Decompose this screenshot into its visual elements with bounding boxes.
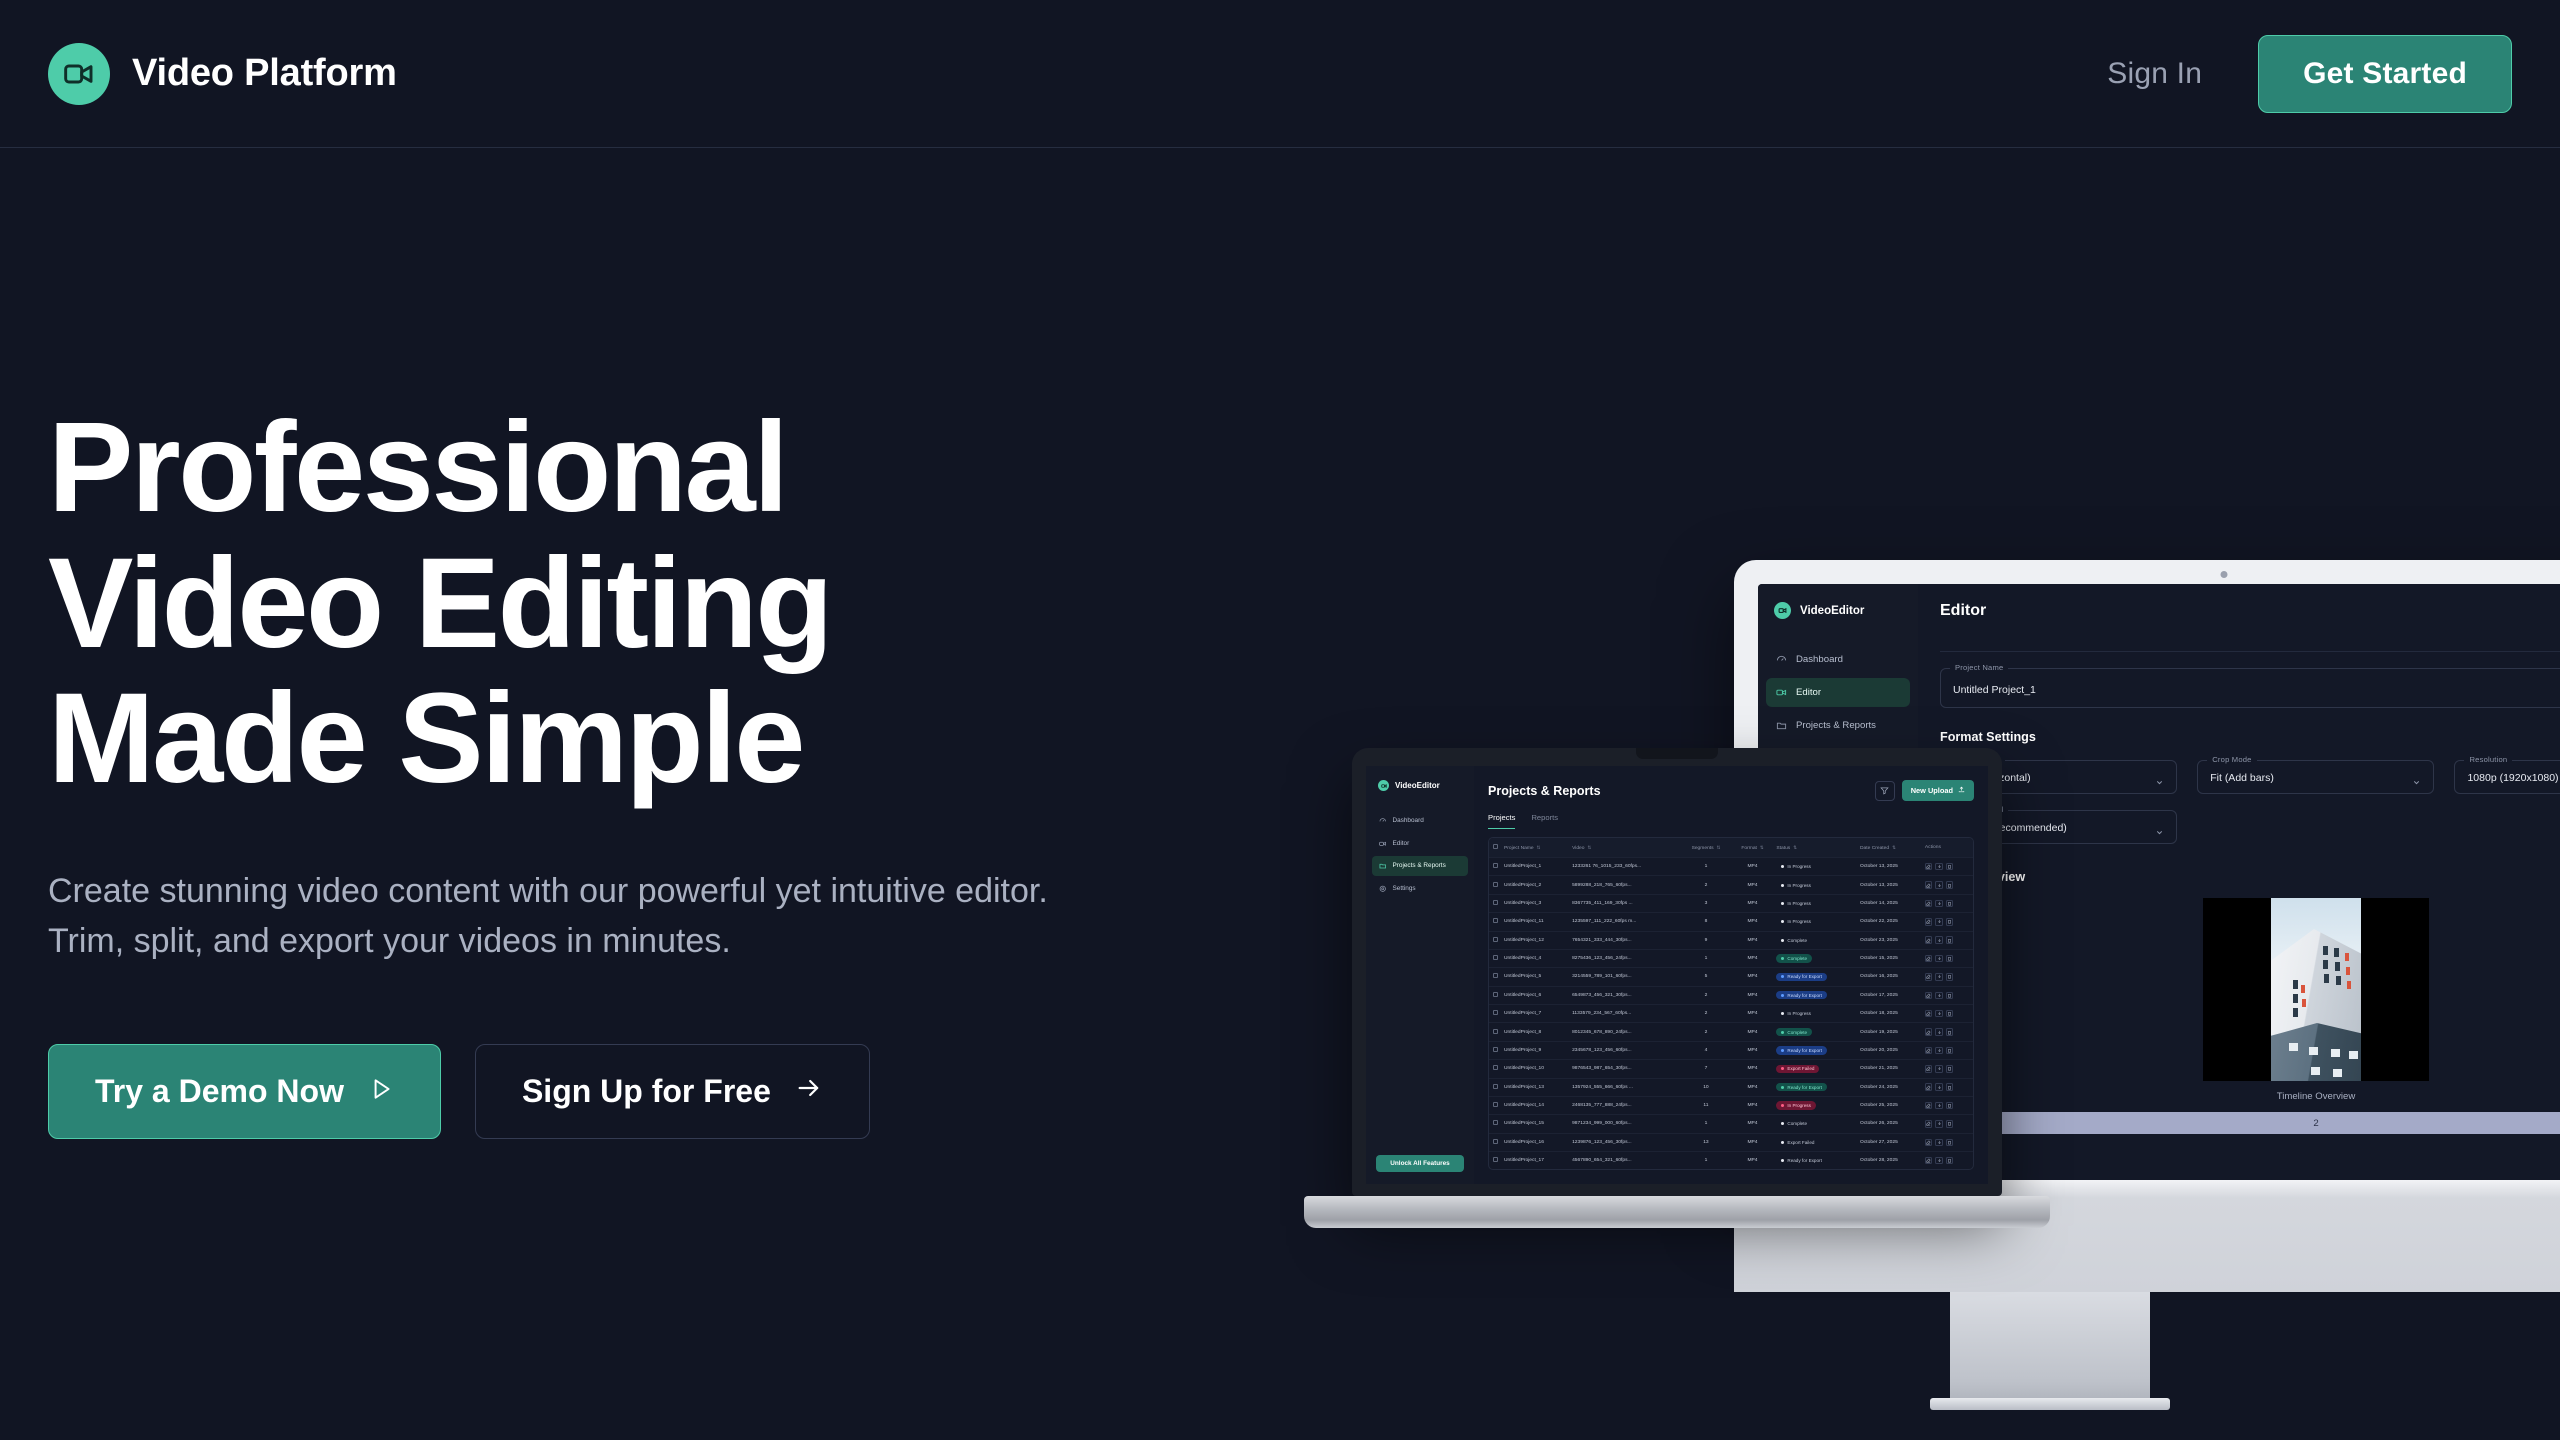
cell-format: MP4 xyxy=(1732,1041,1774,1059)
sidebar-item-settings[interactable]: Settings xyxy=(1372,879,1468,899)
project-name-label: Project Name xyxy=(1950,663,2008,672)
sidebar-item-projects-reports[interactable]: Projects & Reports xyxy=(1766,711,1910,740)
cell-video: 6549873_456_321_30fps... xyxy=(1569,986,1680,1004)
checkbox-icon[interactable] xyxy=(1493,937,1498,942)
row-checkbox[interactable] xyxy=(1489,1152,1501,1170)
projects-page-title: Projects & Reports xyxy=(1488,784,1601,798)
monitor-stand-foot xyxy=(1930,1398,2170,1410)
device-mockups: VideoEditor Dashboard Editor xyxy=(1330,478,2560,1428)
format-settings-heading: Format Settings xyxy=(1940,730,2560,744)
tab-reports[interactable]: Reports xyxy=(1531,813,1558,829)
video-preview-player[interactable] xyxy=(2203,898,2429,1081)
status-dot-icon xyxy=(1781,1122,1784,1125)
table-row[interactable]: UntitledProject_159871234_999_000_60fps.… xyxy=(1489,1115,1973,1133)
status-label: In Progress xyxy=(1787,864,1811,869)
edit-icon[interactable] xyxy=(1925,1157,1933,1165)
row-checkbox[interactable] xyxy=(1489,986,1501,1004)
project-name-value: Untitled Project_1 xyxy=(1953,684,2036,696)
cell-project-name: UntitledProject_16 xyxy=(1501,1133,1569,1151)
cell-video: 3214559_789_101_60fps... xyxy=(1569,968,1680,986)
status-label: Ready for Export xyxy=(1787,1158,1821,1163)
play-triangle-icon xyxy=(368,1073,394,1110)
new-upload-button[interactable]: New Upload xyxy=(1902,780,1974,801)
cell-actions xyxy=(1922,894,1973,912)
download-icon[interactable] xyxy=(1935,1047,1943,1055)
row-checkbox[interactable] xyxy=(1489,931,1501,949)
cell-status: In Progress xyxy=(1773,1096,1857,1114)
status-dot-icon xyxy=(1781,902,1784,905)
sign-in-link[interactable]: Sign In xyxy=(2107,57,2202,91)
row-checkbox[interactable] xyxy=(1489,1133,1501,1151)
cell-project-name: UntitledProject_1 xyxy=(1501,858,1569,876)
cell-project-name: UntitledProject_13 xyxy=(1501,1078,1569,1096)
edit-icon[interactable] xyxy=(1925,955,1933,963)
delete-icon[interactable] xyxy=(1946,1120,1954,1128)
delete-icon[interactable] xyxy=(1946,1065,1954,1073)
row-checkbox[interactable] xyxy=(1489,858,1501,876)
chevron-down-icon xyxy=(2155,824,2164,833)
checkbox-icon[interactable] xyxy=(1493,992,1498,997)
sort-icon: ⇅ xyxy=(1587,845,1591,851)
cell-segments: 2 xyxy=(1680,986,1731,1004)
unlock-all-features-button[interactable]: Unlock All Features xyxy=(1376,1155,1464,1172)
row-checkbox[interactable] xyxy=(1489,1115,1501,1133)
cell-actions xyxy=(1922,1096,1973,1114)
checkbox-icon[interactable] xyxy=(1493,900,1498,905)
sidebar-label: Projects & Reports xyxy=(1393,862,1446,869)
status-dot-icon xyxy=(1781,1049,1784,1052)
table-row[interactable]: UntitledProject_48275436_123_456_24fps..… xyxy=(1489,949,1973,967)
cell-actions xyxy=(1922,876,1973,894)
cell-project-name: UntitledProject_17 xyxy=(1501,1152,1569,1170)
hero-title-line-1: Professional xyxy=(48,400,1168,536)
sidebar-label: Projects & Reports xyxy=(1796,720,1876,731)
new-upload-label: New Upload xyxy=(1911,786,1953,795)
column-segments[interactable]: Segments⇅ xyxy=(1680,838,1731,858)
cell-project-name: UntitledProject_4 xyxy=(1501,949,1569,967)
sidebar-item-dashboard[interactable]: Dashboard xyxy=(1766,645,1910,674)
hero-title-line-2: Video Editing xyxy=(48,536,1168,672)
cell-segments: 5 xyxy=(1680,968,1731,986)
editor-toolbar: Editor Save Exp xyxy=(1940,602,2560,635)
cell-status: Ready for Export xyxy=(1773,1152,1857,1170)
table-row[interactable]: UntitledProject_174567890_654_321_60fps.… xyxy=(1489,1152,1973,1170)
projects-header-actions: New Upload xyxy=(1875,780,1974,801)
cell-format: MP4 xyxy=(1732,1060,1774,1078)
header-actions: Sign In Get Started xyxy=(2107,35,2512,113)
status-dot-icon xyxy=(1781,1067,1784,1070)
download-icon[interactable] xyxy=(1935,955,1943,963)
delete-icon[interactable] xyxy=(1946,955,1954,963)
video-camera-icon xyxy=(1378,780,1389,791)
laptop-base xyxy=(1304,1196,2050,1228)
filter-funnel-icon[interactable] xyxy=(1875,781,1895,801)
sign-up-button[interactable]: Sign Up for Free xyxy=(475,1044,870,1139)
timeline-bar[interactable]: 2 xyxy=(1940,1112,2560,1134)
status-label: Export Failed xyxy=(1787,1066,1814,1071)
row-checkbox[interactable] xyxy=(1489,1005,1501,1023)
status-label: Complete xyxy=(1787,938,1807,943)
cell-status: Ready for Export xyxy=(1773,986,1857,1004)
cell-video: 8275436_123_456_24fps... xyxy=(1569,949,1680,967)
sidebar-label: Editor xyxy=(1393,840,1410,847)
sort-icon: ⇅ xyxy=(1717,845,1721,851)
edit-icon[interactable] xyxy=(1925,992,1933,1000)
cell-date-created: October 16, 2025 xyxy=(1857,968,1922,986)
cell-format: MP4 xyxy=(1732,1005,1774,1023)
cell-status: Ready for Export xyxy=(1773,1041,1857,1059)
row-checkbox[interactable] xyxy=(1489,1041,1501,1059)
table-row[interactable]: UntitledProject_66549873_456_321_30fps..… xyxy=(1489,986,1973,1004)
edit-icon[interactable] xyxy=(1925,1010,1933,1018)
cell-actions xyxy=(1922,913,1973,931)
checkbox-icon[interactable] xyxy=(1493,1084,1498,1089)
cell-format: MP4 xyxy=(1732,894,1774,912)
table-row[interactable]: UntitledProject_71133579_234_567_60fps..… xyxy=(1489,1005,1973,1023)
crop-mode-select[interactable]: Crop Mode Fit (Add bars) xyxy=(2197,760,2434,794)
cell-actions xyxy=(1922,1152,1973,1170)
edit-icon[interactable] xyxy=(1925,1102,1933,1110)
table-row[interactable]: UntitledProject_11233261 76_1015_233_60f… xyxy=(1489,858,1973,876)
table-row[interactable]: UntitledProject_111235597_111_222_60fps … xyxy=(1489,913,1973,931)
format-settings-row: Aspect Ratio 16:9 (Horizontal) Crop Mode… xyxy=(1940,760,2560,794)
cell-video: 7654321_333_444_30fps... xyxy=(1569,931,1680,949)
cell-segments: 9 xyxy=(1680,931,1731,949)
column-format[interactable]: Format⇅ xyxy=(1732,838,1774,858)
editor-page-title: Editor xyxy=(1940,602,1986,620)
status-dot-icon xyxy=(1781,1012,1784,1015)
row-checkbox[interactable] xyxy=(1489,1078,1501,1096)
row-checkbox[interactable] xyxy=(1489,949,1501,967)
brand-logo[interactable]: Video Platform xyxy=(48,43,397,105)
cell-date-created: October 25, 2025 xyxy=(1857,1096,1922,1114)
edit-icon[interactable] xyxy=(1925,1028,1933,1036)
cell-date-created: October 19, 2025 xyxy=(1857,1023,1922,1041)
checkbox-icon[interactable] xyxy=(1493,1139,1498,1144)
cell-segments: 1 xyxy=(1680,1115,1731,1133)
table-header-row: Project Name⇅ Video⇅ Segments⇅ Format⇅ S… xyxy=(1489,838,1973,858)
cell-segments: 11 xyxy=(1680,1096,1731,1114)
sidebar-item-projects-reports[interactable]: Projects & Reports xyxy=(1372,856,1468,876)
video-preview-header: Video Preview Video player size xyxy=(1940,870,2560,884)
download-icon[interactable] xyxy=(1935,1157,1943,1165)
cell-project-name: UntitledProject_2 xyxy=(1501,876,1569,894)
table-row[interactable]: UntitledProject_161239876_123_456_30fps.… xyxy=(1489,1133,1973,1151)
table-row[interactable]: UntitledProject_131357924_555_666_60fps … xyxy=(1489,1078,1973,1096)
cell-project-name: UntitledProject_14 xyxy=(1501,1096,1569,1114)
cell-project-name: UntitledProject_5 xyxy=(1501,968,1569,986)
delete-icon[interactable] xyxy=(1946,1028,1954,1036)
status-dot-icon xyxy=(1781,865,1784,868)
video-camera-icon xyxy=(1379,840,1387,848)
download-icon[interactable] xyxy=(1935,1010,1943,1018)
table-row[interactable]: UntitledProject_142468135_777_888_24fps.… xyxy=(1489,1096,1973,1114)
download-icon[interactable] xyxy=(1935,1065,1943,1073)
toolbar-divider xyxy=(1940,651,2560,652)
table-row[interactable]: UntitledProject_109876543_987_654_30fps.… xyxy=(1489,1060,1973,1078)
cell-status: Complete xyxy=(1773,931,1857,949)
checkbox-icon[interactable] xyxy=(1493,863,1498,868)
export-speed-row: Export Speed Quality (Recommended) xyxy=(1940,810,2560,844)
delete-icon[interactable] xyxy=(1946,936,1954,944)
download-icon[interactable] xyxy=(1935,1120,1943,1128)
edit-icon[interactable] xyxy=(1925,1047,1933,1055)
status-label: In Progress xyxy=(1787,901,1811,906)
checkbox-icon[interactable] xyxy=(1493,1102,1498,1107)
cell-format: MP4 xyxy=(1732,968,1774,986)
download-icon[interactable] xyxy=(1935,1139,1943,1147)
download-icon[interactable] xyxy=(1935,900,1943,908)
cell-project-name: UntitledProject_8 xyxy=(1501,1023,1569,1041)
status-label: In Progress xyxy=(1787,919,1811,924)
status-badge: In Progress xyxy=(1776,1010,1816,1018)
cell-video: 1233261 76_1015_233_60fps... xyxy=(1569,858,1680,876)
sidebar-label: Dashboard xyxy=(1796,654,1843,665)
cell-status: Complete xyxy=(1773,1023,1857,1041)
cell-segments: 10 xyxy=(1680,1078,1731,1096)
delete-icon[interactable] xyxy=(1946,881,1954,889)
chevron-down-icon xyxy=(2412,774,2421,783)
row-checkbox[interactable] xyxy=(1489,876,1501,894)
column-actions: Actions xyxy=(1922,838,1973,858)
checkbox-icon[interactable] xyxy=(1493,955,1498,960)
cell-format: MP4 xyxy=(1732,858,1774,876)
status-label: In Progress xyxy=(1787,1103,1811,1108)
crop-mode-value: Fit (Add bars) xyxy=(2210,772,2274,784)
checkbox-icon[interactable] xyxy=(1493,1047,1498,1052)
edit-icon[interactable] xyxy=(1925,973,1933,981)
cell-segments: 4 xyxy=(1680,1041,1731,1059)
gauge-icon xyxy=(1379,817,1387,825)
cell-actions xyxy=(1922,949,1973,967)
table-row[interactable]: UntitledProject_53214559_789_101_60fps..… xyxy=(1489,968,1973,986)
cell-status: Complete xyxy=(1773,1115,1857,1133)
checkbox-icon[interactable] xyxy=(1493,1065,1498,1070)
preview-frame-image xyxy=(2271,898,2361,1081)
column-video[interactable]: Video⇅ xyxy=(1569,838,1680,858)
row-checkbox[interactable] xyxy=(1489,894,1501,912)
cell-status: Ready for Export xyxy=(1773,1078,1857,1096)
timeline-overview-caption: Timeline Overview xyxy=(2277,1091,2356,1102)
status-badge: Complete xyxy=(1776,1120,1812,1128)
checkbox-icon[interactable] xyxy=(1493,1010,1498,1015)
projects-brand: VideoEditor xyxy=(1366,780,1474,791)
cell-format: MP4 xyxy=(1732,986,1774,1004)
page-title: Professional Video Editing Made Simple xyxy=(48,400,1168,807)
cell-video: 5899288_218_765_60fps... xyxy=(1569,876,1680,894)
sidebar-item-editor[interactable]: Editor xyxy=(1766,678,1910,707)
checkbox-icon[interactable] xyxy=(1493,1157,1498,1162)
edit-icon[interactable] xyxy=(1925,1120,1933,1128)
download-icon[interactable] xyxy=(1935,1028,1943,1036)
delete-icon[interactable] xyxy=(1946,1157,1954,1165)
edit-icon[interactable] xyxy=(1925,918,1933,926)
cell-format: MP4 xyxy=(1732,1115,1774,1133)
cell-status: In Progress xyxy=(1773,1005,1857,1023)
project-name-field[interactable]: Project Name Untitled Project_1 xyxy=(1940,668,2560,708)
checkbox-icon[interactable] xyxy=(1493,882,1498,887)
hero-copy: Professional Video Editing Made Simple C… xyxy=(48,400,1168,1139)
download-icon[interactable] xyxy=(1935,918,1943,926)
cell-status: Export Failed xyxy=(1773,1060,1857,1078)
cell-actions xyxy=(1922,1023,1973,1041)
projects-brand-label: VideoEditor xyxy=(1395,781,1440,790)
edit-icon[interactable] xyxy=(1925,1083,1933,1091)
projects-table-container: Project Name⇅ Video⇅ Segments⇅ Format⇅ S… xyxy=(1488,837,1974,1170)
cell-video: 1133579_234_567_60fps... xyxy=(1569,1005,1680,1023)
row-checkbox[interactable] xyxy=(1489,913,1501,931)
checkbox-icon[interactable] xyxy=(1493,973,1498,978)
status-label: Ready for Export xyxy=(1787,1048,1821,1053)
edit-icon[interactable] xyxy=(1925,1139,1933,1147)
edit-icon[interactable] xyxy=(1925,881,1933,889)
monitor-stand-neck xyxy=(1950,1292,2150,1404)
cell-date-created: October 17, 2025 xyxy=(1857,986,1922,1004)
delete-icon[interactable] xyxy=(1946,863,1954,871)
hero-cta-group: Try a Demo Now Sign Up for Free xyxy=(48,1044,1168,1139)
edit-icon[interactable] xyxy=(1925,936,1933,944)
cell-date-created: October 15, 2025 xyxy=(1857,949,1922,967)
status-badge: Ready for Export xyxy=(1776,973,1826,981)
column-select-all[interactable] xyxy=(1489,838,1501,858)
delete-icon[interactable] xyxy=(1946,973,1954,981)
status-dot-icon xyxy=(1781,1031,1784,1034)
delete-icon[interactable] xyxy=(1946,918,1954,926)
cell-video: 1357924_555_666_60fps ... xyxy=(1569,1078,1680,1096)
status-label: Ready for Export xyxy=(1787,993,1821,998)
status-badge: Export Failed xyxy=(1776,1065,1819,1073)
sidebar-label: Editor xyxy=(1796,687,1821,698)
cell-video: 2468135_777_888_24fps... xyxy=(1569,1096,1680,1114)
folder-icon xyxy=(1379,862,1387,870)
table-row[interactable]: UntitledProject_127654321_333_444_30fps.… xyxy=(1489,931,1973,949)
row-checkbox[interactable] xyxy=(1489,1023,1501,1041)
get-started-button[interactable]: Get Started xyxy=(2258,35,2512,113)
download-icon[interactable] xyxy=(1935,936,1943,944)
projects-nav: Dashboard Editor Projects & Reports xyxy=(1366,811,1474,898)
status-badge: Export Failed xyxy=(1776,1138,1819,1146)
status-badge: In Progress xyxy=(1776,918,1816,926)
delete-icon[interactable] xyxy=(1946,992,1954,1000)
cell-actions xyxy=(1922,1041,1973,1059)
cell-actions xyxy=(1922,931,1973,949)
download-icon[interactable] xyxy=(1935,881,1943,889)
upload-icon xyxy=(1958,786,1965,795)
edit-icon[interactable] xyxy=(1925,863,1933,871)
row-checkbox[interactable] xyxy=(1489,968,1501,986)
row-checkbox[interactable] xyxy=(1489,1096,1501,1114)
cell-actions xyxy=(1922,1133,1973,1151)
cell-format: MP4 xyxy=(1732,1133,1774,1151)
checkbox-icon[interactable] xyxy=(1493,918,1498,923)
checkbox-icon[interactable] xyxy=(1493,844,1498,849)
status-dot-icon xyxy=(1781,920,1784,923)
sidebar-item-dashboard[interactable]: Dashboard xyxy=(1372,811,1468,831)
sidebar-item-editor[interactable]: Editor xyxy=(1372,834,1468,854)
editor-brand-label: VideoEditor xyxy=(1800,605,1864,617)
status-badge: Ready for Export xyxy=(1776,1157,1826,1165)
column-project-name[interactable]: Project Name⇅ xyxy=(1501,838,1569,858)
status-label: Complete xyxy=(1787,956,1807,961)
table-row[interactable]: UntitledProject_88012345_678_890_24fps..… xyxy=(1489,1023,1973,1041)
status-dot-icon xyxy=(1781,1104,1784,1107)
delete-icon[interactable] xyxy=(1946,1047,1954,1055)
status-dot-icon xyxy=(1781,975,1784,978)
delete-icon[interactable] xyxy=(1946,1083,1954,1091)
table-row[interactable]: UntitledProject_38367735_411_169_30fps .… xyxy=(1489,894,1973,912)
delete-icon[interactable] xyxy=(1946,1139,1954,1147)
cell-actions xyxy=(1922,1115,1973,1133)
cell-format: MP4 xyxy=(1732,931,1774,949)
delete-icon[interactable] xyxy=(1946,1010,1954,1018)
cell-segments: 1 xyxy=(1680,949,1731,967)
download-icon[interactable] xyxy=(1935,1083,1943,1091)
download-icon[interactable] xyxy=(1935,863,1943,871)
status-badge: Ready for Export xyxy=(1776,991,1826,999)
cell-video: 2345678_123_456_60fps... xyxy=(1569,1041,1680,1059)
cell-video: 1235597_111_222_60fps m... xyxy=(1569,913,1680,931)
gauge-icon xyxy=(1776,654,1787,665)
editor-main-panel: Editor Save Exp Project Name Untitled P xyxy=(1918,584,2560,1180)
cell-status: Export Failed xyxy=(1773,1133,1857,1151)
projects-app-screen: VideoEditor Dashboard Editor xyxy=(1366,766,1988,1184)
checkbox-icon[interactable] xyxy=(1493,1029,1498,1034)
column-status[interactable]: Status⇅ xyxy=(1773,838,1857,858)
download-icon[interactable] xyxy=(1935,1102,1943,1110)
resolution-label: Resolution xyxy=(2464,755,2512,764)
tab-projects[interactable]: Projects xyxy=(1488,813,1515,829)
download-icon[interactable] xyxy=(1935,973,1943,981)
column-date-created[interactable]: Date Created⇅ xyxy=(1857,838,1922,858)
edit-icon[interactable] xyxy=(1925,1065,1933,1073)
cell-project-name: UntitledProject_6 xyxy=(1501,986,1569,1004)
edit-icon[interactable] xyxy=(1925,900,1933,908)
chevron-down-icon xyxy=(2155,774,2164,783)
cell-project-name: UntitledProject_15 xyxy=(1501,1115,1569,1133)
laptop-lid: VideoEditor Dashboard Editor xyxy=(1352,748,2002,1196)
status-badge: In Progress xyxy=(1776,899,1816,907)
status-dot-icon xyxy=(1781,957,1784,960)
resolution-select[interactable]: Resolution 1080p (1920x1080) xyxy=(2454,760,2560,794)
cell-project-name: UntitledProject_12 xyxy=(1501,931,1569,949)
table-row[interactable]: UntitledProject_25899288_218_765_60fps..… xyxy=(1489,876,1973,894)
cell-date-created: October 23, 2025 xyxy=(1857,931,1922,949)
status-badge: Complete xyxy=(1776,1028,1812,1036)
hero-subtitle: Create stunning video content with our p… xyxy=(48,867,1128,966)
cell-status: Ready for Export xyxy=(1773,968,1857,986)
try-demo-button[interactable]: Try a Demo Now xyxy=(48,1044,441,1139)
sidebar-label: Dashboard xyxy=(1393,817,1424,824)
download-icon[interactable] xyxy=(1935,992,1943,1000)
cell-video: 1239876_123_456_30fps... xyxy=(1569,1133,1680,1151)
status-badge: Complete xyxy=(1776,936,1812,944)
table-head: Project Name⇅ Video⇅ Segments⇅ Format⇅ S… xyxy=(1489,838,1973,858)
cell-format: MP4 xyxy=(1732,913,1774,931)
cell-date-created: October 26, 2025 xyxy=(1857,1115,1922,1133)
cell-date-created: October 13, 2025 xyxy=(1857,876,1922,894)
gear-icon xyxy=(1379,885,1387,893)
row-checkbox[interactable] xyxy=(1489,1060,1501,1078)
laptop-mockup: VideoEditor Dashboard Editor xyxy=(1352,748,2002,1238)
table-row[interactable]: UntitledProject_92345678_123_456_60fps..… xyxy=(1489,1041,1973,1059)
cell-actions xyxy=(1922,1005,1973,1023)
checkbox-icon[interactable] xyxy=(1493,1120,1498,1125)
cell-date-created: October 13, 2025 xyxy=(1857,858,1922,876)
delete-icon[interactable] xyxy=(1946,900,1954,908)
cell-format: MP4 xyxy=(1732,876,1774,894)
delete-icon[interactable] xyxy=(1946,1102,1954,1110)
status-badge: Ready for Export xyxy=(1776,1083,1826,1091)
